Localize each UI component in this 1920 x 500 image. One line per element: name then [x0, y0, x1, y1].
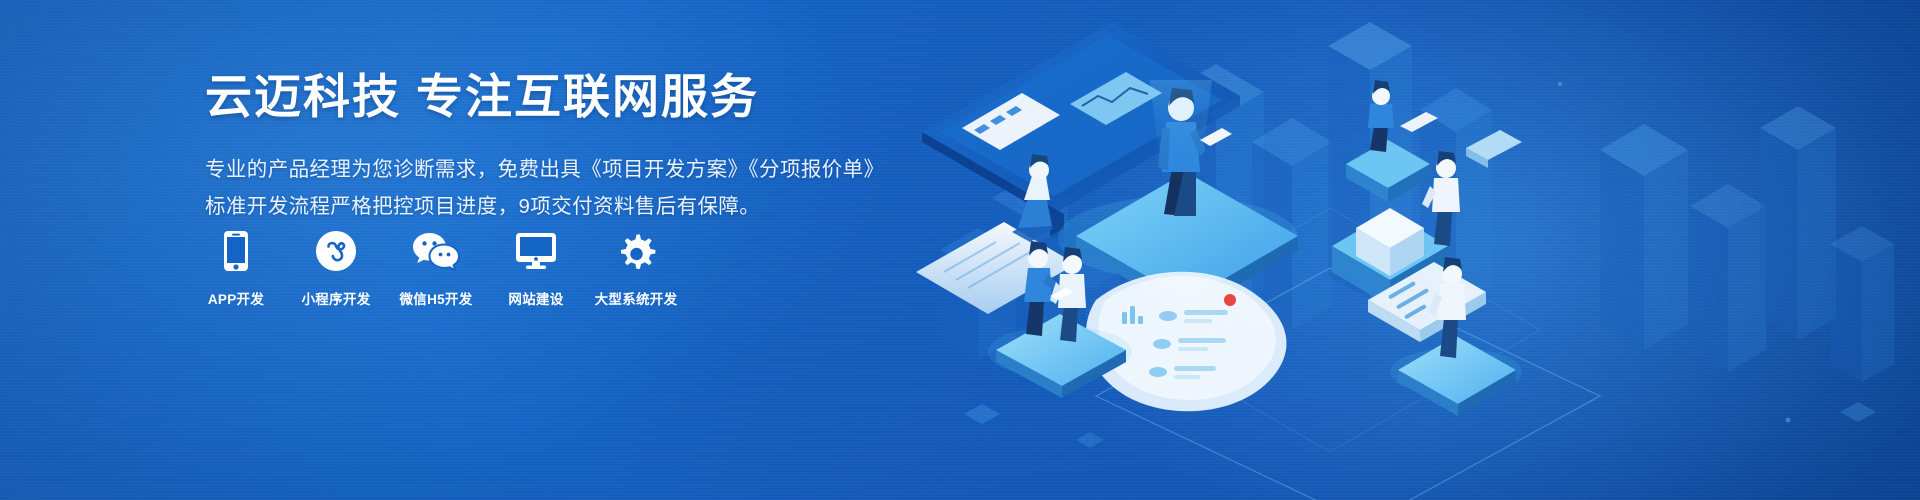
desktop-monitor-icon	[515, 228, 557, 274]
hero-banner: 云迈科技 专注互联网服务 专业的产品经理为您诊断需求，免费出具《项目开发方案》《…	[0, 0, 1920, 500]
service-label: 网站建设	[508, 288, 563, 308]
service-item-wechat-h5[interactable]: 微信H5开发	[405, 228, 467, 308]
gear-icon	[615, 228, 657, 274]
mobile-phone-icon	[223, 228, 249, 274]
service-item-large-system[interactable]: 大型系统开发	[605, 228, 667, 308]
banner-subtitle: 专业的产品经理为您诊断需求，免费出具《项目开发方案》《分项报价单》 标准开发流程…	[205, 151, 905, 226]
wechat-bubbles-icon	[412, 228, 460, 274]
service-icon-row: APP开发 小程序开发 微信	[205, 228, 667, 308]
service-label: 小程序开发	[302, 288, 371, 308]
subtitle-line-1: 专业的产品经理为您诊断需求，免费出具《项目开发方案》《分项报价单》	[205, 151, 905, 188]
service-label: 微信H5开发	[399, 288, 472, 308]
service-item-website[interactable]: 网站建设	[505, 228, 567, 308]
isometric-illustration	[900, 0, 1920, 500]
service-label: APP开发	[208, 288, 264, 308]
page-title: 云迈科技 专注互联网服务	[205, 68, 905, 127]
mini-program-icon	[315, 228, 357, 274]
service-item-app[interactable]: APP开发	[205, 228, 267, 308]
banner-content: 云迈科技 专注互联网服务 专业的产品经理为您诊断需求，免费出具《项目开发方案》《…	[205, 68, 905, 225]
subtitle-line-2: 标准开发流程严格把控项目进度，9项交付资料售后有保障。	[205, 188, 905, 225]
service-item-mini-program[interactable]: 小程序开发	[305, 228, 367, 308]
service-label: 大型系统开发	[595, 288, 678, 308]
